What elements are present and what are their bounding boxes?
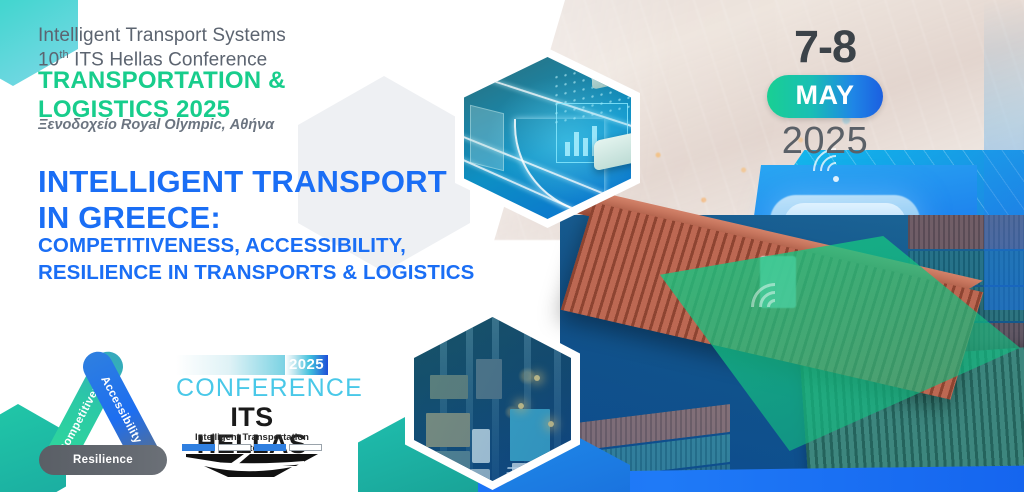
triangle-side-resilience: Resilience <box>39 445 167 475</box>
subhead-line2: RESILIENCE IN TRANSPORTS & LOGISTICS <box>38 259 474 286</box>
page-subtitle: COMPETITIVENESS, ACCESSIBILITY, RESILIEN… <box>38 232 474 287</box>
pillars-triangle-logo: Competitiveness Accessibility Resilience <box>33 345 173 477</box>
conference-banner: Intelligent Transport Systems 10th ITS H… <box>0 0 1024 492</box>
hexagon-photo-container-terminal <box>405 308 580 490</box>
event-date-badge: 7-8 MAY 2025 <box>740 24 910 162</box>
event-kicker-line1: TRANSPORTATION & <box>38 66 286 95</box>
its-hellas-logo: 2025 CONFERENCE ITS HELLAS Intelligent T… <box>176 355 328 467</box>
conference-edition-suffix: th <box>59 49 68 61</box>
headline-line1: INTELLIGENT TRANSPORT <box>38 164 447 200</box>
logo-year: 2025 <box>285 355 328 375</box>
logo-lane-dashes <box>182 444 322 451</box>
hexagon-photo-smart-road <box>455 48 640 228</box>
event-month-pill: MAY <box>767 75 882 118</box>
event-year: 2025 <box>740 122 910 162</box>
organization-line: Intelligent Transport Systems <box>38 24 286 48</box>
right-blue-edge <box>984 0 1024 310</box>
logo-road-swoosh <box>184 452 320 478</box>
page-title: INTELLIGENT TRANSPORT IN GREECE: <box>38 164 447 237</box>
event-kicker: TRANSPORTATION & LOGISTICS 2025 <box>38 66 286 125</box>
event-days: 7-8 <box>740 24 910 69</box>
logo-conference-word: CONFERENCE <box>176 376 328 401</box>
roadside-structure <box>470 105 504 171</box>
venue-text: Ξενοδοχείο Royal Olympic, Αθήνα <box>38 117 274 133</box>
subhead-line1: COMPETITIVENESS, ACCESSIBILITY, <box>38 232 474 259</box>
